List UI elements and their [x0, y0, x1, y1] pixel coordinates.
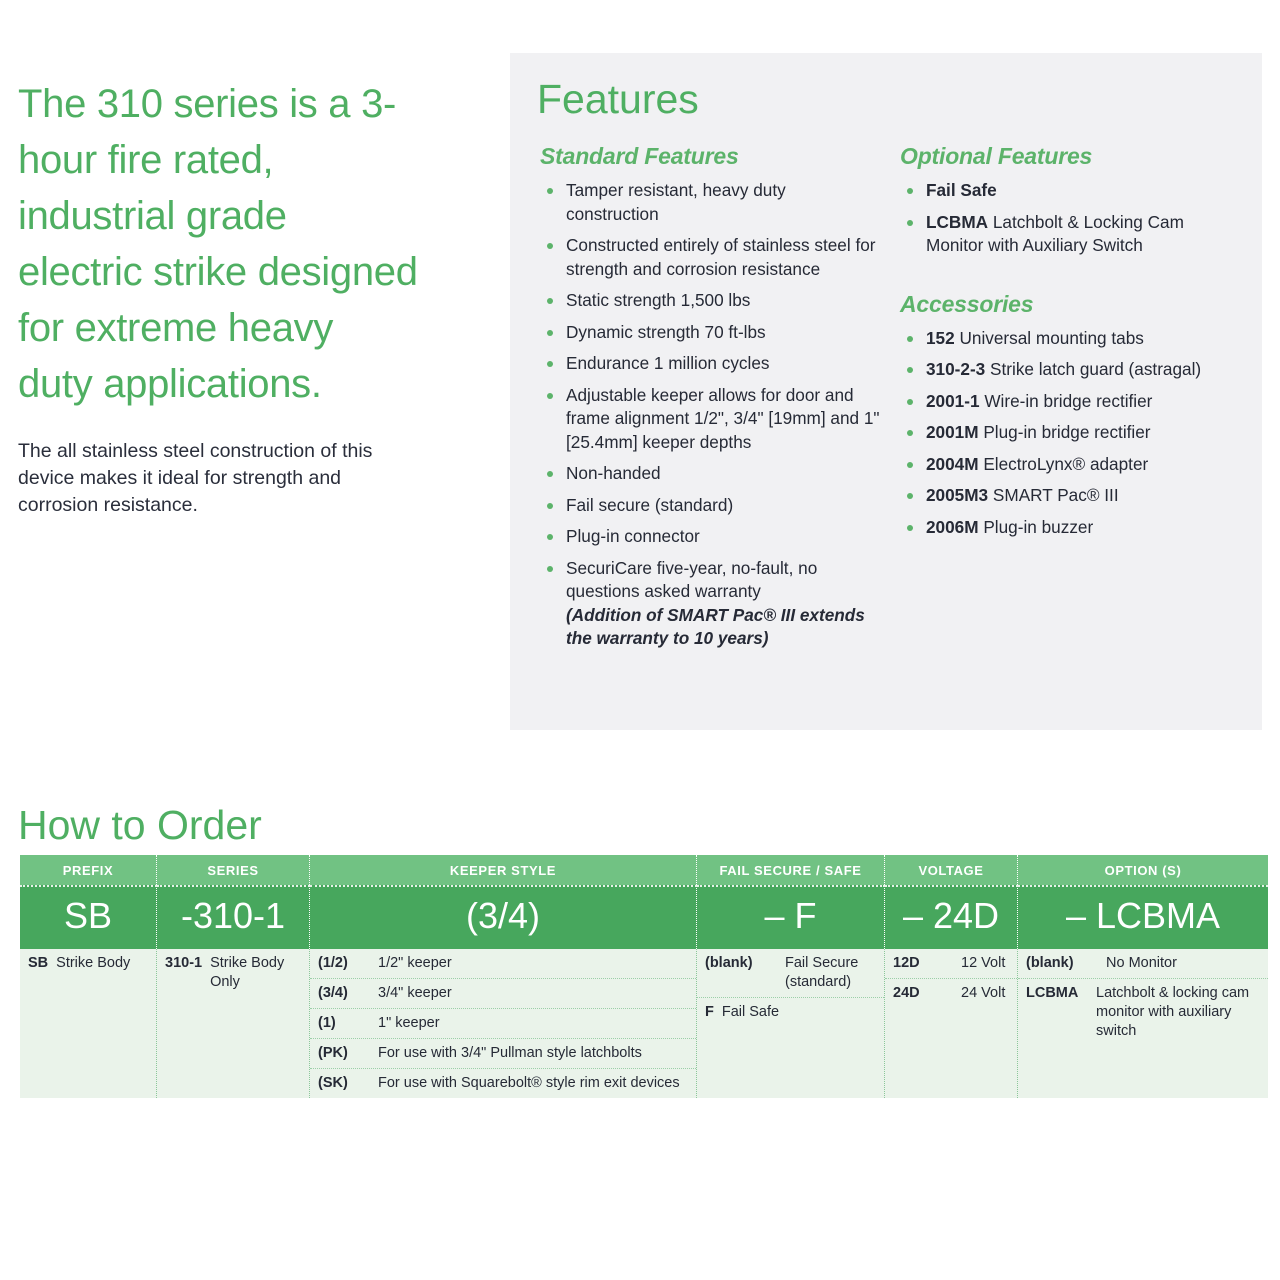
item-code: 2001M — [926, 422, 979, 442]
list-item: 2004M ElectroLynx® adapter — [900, 453, 1240, 477]
column-header-prefix: PREFIX — [20, 855, 157, 885]
option-code: (3/4) — [318, 984, 370, 1003]
table-row: F Fail Safe — [697, 998, 884, 1027]
list-item: LCBMA Latchbolt & Locking Cam Monitor wi… — [900, 211, 1240, 258]
option-code: 24D — [893, 984, 953, 1003]
option-code: (SK) — [318, 1074, 370, 1093]
optional-features-column: Optional Features Fail Safe LCBMA Latchb… — [900, 143, 1240, 547]
item-code: 2005M3 — [926, 485, 988, 505]
list-item: Tamper resistant, heavy duty constructio… — [540, 179, 880, 226]
table-row: (PK) For use with 3/4" Pullman style lat… — [310, 1039, 696, 1069]
option-desc: Fail Safe — [714, 1003, 779, 1022]
list-item: 2005M3 SMART Pac® III — [900, 484, 1240, 508]
list-item: 310-2-3 Strike latch guard (astragal) — [900, 358, 1240, 382]
column-header-keeper-style: KEEPER STYLE — [310, 855, 697, 885]
standard-features-heading: Standard Features — [540, 143, 880, 170]
intro-block: The 310 series is a 3-hour fire rated, i… — [18, 76, 418, 519]
option-desc: 1/2" keeper — [370, 954, 452, 973]
code-options: – LCBMA — [1018, 885, 1268, 949]
code-fail-secure-safe: – F — [697, 885, 885, 949]
option-code: LCBMA — [1026, 984, 1088, 1003]
table-row: LCBMA Latchbolt & locking cam monitor wi… — [1018, 979, 1268, 1046]
voltage-options-column: 12D 12 Volt 24D 24 Volt — [885, 949, 1018, 1098]
item-code: 2001-1 — [926, 391, 980, 411]
list-item: 2001-1 Wire-in bridge rectifier — [900, 390, 1240, 414]
features-panel: Features Standard Features Tamper resist… — [510, 53, 1262, 730]
list-item: 2006M Plug-in buzzer — [900, 516, 1240, 540]
how-to-order-table: PREFIX SERIES KEEPER STYLE FAIL SECURE /… — [20, 855, 1268, 1098]
list-item: Dynamic strength 70 ft-lbs — [540, 321, 880, 345]
option-desc: 1" keeper — [370, 1014, 440, 1033]
table-row: (SK) For use with Squarebolt® style rim … — [310, 1069, 696, 1098]
table-row: (blank) No Monitor — [1018, 949, 1268, 979]
item-desc: Plug-in bridge rectifier — [983, 422, 1150, 442]
list-item: Fail secure (standard) — [540, 494, 880, 518]
table-code-row: SB -310-1 (3/4) – F – 24D – LCBMA — [20, 885, 1268, 949]
item-code: 2006M — [926, 517, 979, 537]
standard-features-list: Tamper resistant, heavy duty constructio… — [540, 179, 880, 651]
option-desc: No Monitor — [1098, 954, 1177, 973]
column-header-series: SERIES — [157, 855, 310, 885]
list-item-warranty: SecuriCare five-year, no-fault, no quest… — [540, 557, 880, 651]
optional-features-list: Fail Safe LCBMA Latchbolt & Locking Cam … — [900, 179, 1240, 258]
option-code: (blank) — [705, 954, 777, 973]
code-keeper-style: (3/4) — [310, 885, 697, 949]
table-row: 24D 24 Volt — [885, 979, 1017, 1008]
option-code: (1) — [318, 1014, 370, 1033]
page-headline: The 310 series is a 3-hour fire rated, i… — [18, 76, 418, 412]
option-desc: 24 Volt — [953, 984, 1005, 1003]
item-code: 310-2-3 — [926, 359, 985, 379]
column-header-voltage: VOLTAGE — [885, 855, 1018, 885]
option-code: F — [705, 1003, 714, 1022]
item-desc: SMART Pac® III — [993, 485, 1119, 505]
item-desc: Plug-in buzzer — [983, 517, 1093, 537]
accessories-heading: Accessories — [900, 291, 1240, 318]
item-code: 152 — [926, 328, 955, 348]
option-code: (1/2) — [318, 954, 370, 973]
keeper-options-column: (1/2) 1/2" keeper (3/4) 3/4" keeper (1) … — [310, 949, 697, 1098]
option-desc: Strike Body Only — [202, 954, 303, 992]
option-code: (blank) — [1026, 954, 1098, 973]
table-row: SB Strike Body — [20, 949, 156, 978]
intro-paragraph: The all stainless steel construction of … — [18, 438, 373, 519]
option-code: (PK) — [318, 1044, 370, 1063]
prefix-options-column: SB Strike Body — [20, 949, 157, 1098]
list-item: 152 Universal mounting tabs — [900, 327, 1240, 351]
item-desc: Universal mounting tabs — [959, 328, 1143, 348]
table-row: 12D 12 Volt — [885, 949, 1017, 979]
column-header-fail-secure-safe: FAIL SECURE / SAFE — [697, 855, 885, 885]
fail-options-column: (blank) Fail Secure (standard) F Fail Sa… — [697, 949, 885, 1098]
accessories-list: 152 Universal mounting tabs 310-2-3 Stri… — [900, 327, 1240, 540]
table-row: (3/4) 3/4" keeper — [310, 979, 696, 1009]
table-header-row: PREFIX SERIES KEEPER STYLE FAIL SECURE /… — [20, 855, 1268, 885]
option-options-column: (blank) No Monitor LCBMA Latchbolt & loc… — [1018, 949, 1268, 1098]
list-item: Endurance 1 million cycles — [540, 352, 880, 376]
option-desc: Fail Secure (standard) — [777, 954, 878, 992]
option-code: SB — [28, 954, 48, 973]
series-options-column: 310-1 Strike Body Only — [157, 949, 310, 1098]
code-series: -310-1 — [157, 885, 310, 949]
table-body: SB Strike Body 310-1 Strike Body Only (1… — [20, 949, 1268, 1098]
optional-features-heading: Optional Features — [900, 143, 1240, 170]
code-prefix: SB — [20, 885, 157, 949]
warranty-text: SecuriCare five-year, no-fault, no quest… — [566, 558, 817, 602]
item-code: LCBMA — [926, 212, 988, 232]
list-item: Constructed entirely of stainless steel … — [540, 234, 880, 281]
list-item: Static strength 1,500 lbs — [540, 289, 880, 313]
item-desc: ElectroLynx® adapter — [983, 454, 1148, 474]
code-voltage: – 24D — [885, 885, 1018, 949]
option-desc: For use with 3/4" Pullman style latchbol… — [370, 1044, 642, 1063]
option-code: 12D — [893, 954, 953, 973]
item-desc: Wire-in bridge rectifier — [984, 391, 1152, 411]
item-desc: Strike latch guard (astragal) — [990, 359, 1201, 379]
option-desc: 3/4" keeper — [370, 984, 452, 1003]
option-desc: Latchbolt & locking cam monitor with aux… — [1088, 984, 1262, 1041]
table-row: 310-1 Strike Body Only — [157, 949, 309, 997]
item-code: 2004M — [926, 454, 979, 474]
standard-features-column: Standard Features Tamper resistant, heav… — [540, 143, 880, 659]
list-item: 2001M Plug-in bridge rectifier — [900, 421, 1240, 445]
features-title: Features — [537, 76, 699, 122]
warranty-note: (Addition of SMART Pac® III extends the … — [566, 604, 880, 651]
list-item: Non-handed — [540, 462, 880, 486]
option-desc: For use with Squarebolt® style rim exit … — [370, 1074, 680, 1093]
table-row: (1) 1" keeper — [310, 1009, 696, 1039]
option-desc: Strike Body — [48, 954, 130, 973]
option-desc: 12 Volt — [953, 954, 1005, 973]
table-row: (1/2) 1/2" keeper — [310, 949, 696, 979]
list-item: Adjustable keeper allows for door and fr… — [540, 384, 880, 455]
table-row: (blank) Fail Secure (standard) — [697, 949, 884, 998]
list-item: Fail Safe — [900, 179, 1240, 203]
list-item: Plug-in connector — [540, 525, 880, 549]
option-code: 310-1 — [165, 954, 202, 973]
column-header-options: OPTION (S) — [1018, 855, 1268, 885]
item-code: Fail Safe — [926, 180, 997, 200]
how-to-order-title: How to Order — [18, 802, 262, 848]
